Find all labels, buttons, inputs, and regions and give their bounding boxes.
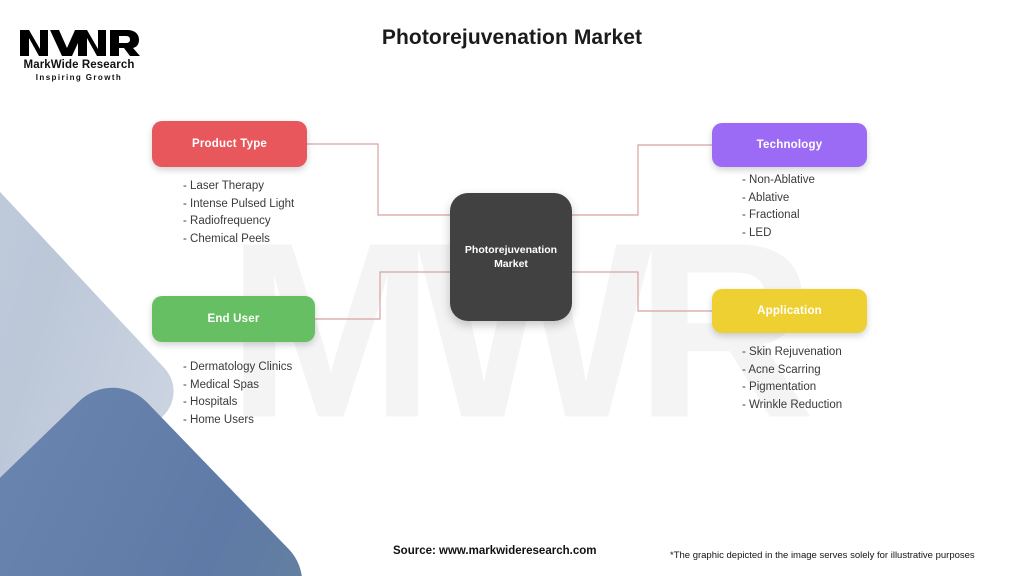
node-application[interactable]: Application	[712, 289, 867, 333]
node-technology[interactable]: Technology	[712, 123, 867, 167]
node-end-user-label: End User	[207, 313, 259, 325]
list-item: - Fractional	[742, 207, 815, 225]
list-item: - Pigmentation	[742, 379, 842, 397]
list-technology: - Non-Ablative - Ablative - Fractional -…	[742, 172, 815, 242]
list-item: - Skin Rejuvenation	[742, 344, 842, 362]
connector-technology	[570, 145, 712, 215]
connector-application	[570, 272, 712, 311]
node-end-user[interactable]: End User	[152, 296, 315, 342]
list-application: - Skin Rejuvenation - Acne Scarring - Pi…	[742, 344, 842, 414]
list-item: - Home Users	[183, 412, 292, 430]
list-item: - Chemical Peels	[183, 231, 294, 249]
node-technology-label: Technology	[757, 139, 823, 151]
list-item: - Laser Therapy	[183, 178, 294, 196]
list-item: - Wrinkle Reduction	[742, 397, 842, 415]
center-label-line1: Photorejuvenation	[465, 244, 557, 256]
list-item: - LED	[742, 225, 815, 243]
list-item: - Non-Ablative	[742, 172, 815, 190]
list-product-type: - Laser Therapy - Intense Pulsed Light -…	[183, 178, 294, 248]
list-item: - Ablative	[742, 190, 815, 208]
list-end-user: - Dermatology Clinics - Medical Spas - H…	[183, 359, 292, 429]
list-item: - Intense Pulsed Light	[183, 196, 294, 214]
list-item: - Acne Scarring	[742, 362, 842, 380]
center-label-line2: Market	[494, 258, 528, 270]
connector-product-type	[307, 144, 452, 215]
node-product-type-label: Product Type	[192, 138, 267, 150]
list-item: - Dermatology Clinics	[183, 359, 292, 377]
connector-end-user	[315, 272, 452, 319]
list-item: - Radiofrequency	[183, 213, 294, 231]
node-center-market[interactable]: Photorejuvenation Market	[450, 193, 572, 321]
diagram-canvas: MWR MarkWide Research Inspiring Growth P…	[0, 0, 1024, 576]
disclaimer-text: *The graphic depicted in the image serve…	[670, 550, 975, 561]
source-text: Source: www.markwideresearch.com	[393, 545, 596, 557]
node-center-market-label: Photorejuvenation Market	[465, 243, 557, 271]
list-item: - Medical Spas	[183, 377, 292, 395]
list-item: - Hospitals	[183, 394, 292, 412]
node-application-label: Application	[757, 305, 822, 317]
node-product-type[interactable]: Product Type	[152, 121, 307, 167]
